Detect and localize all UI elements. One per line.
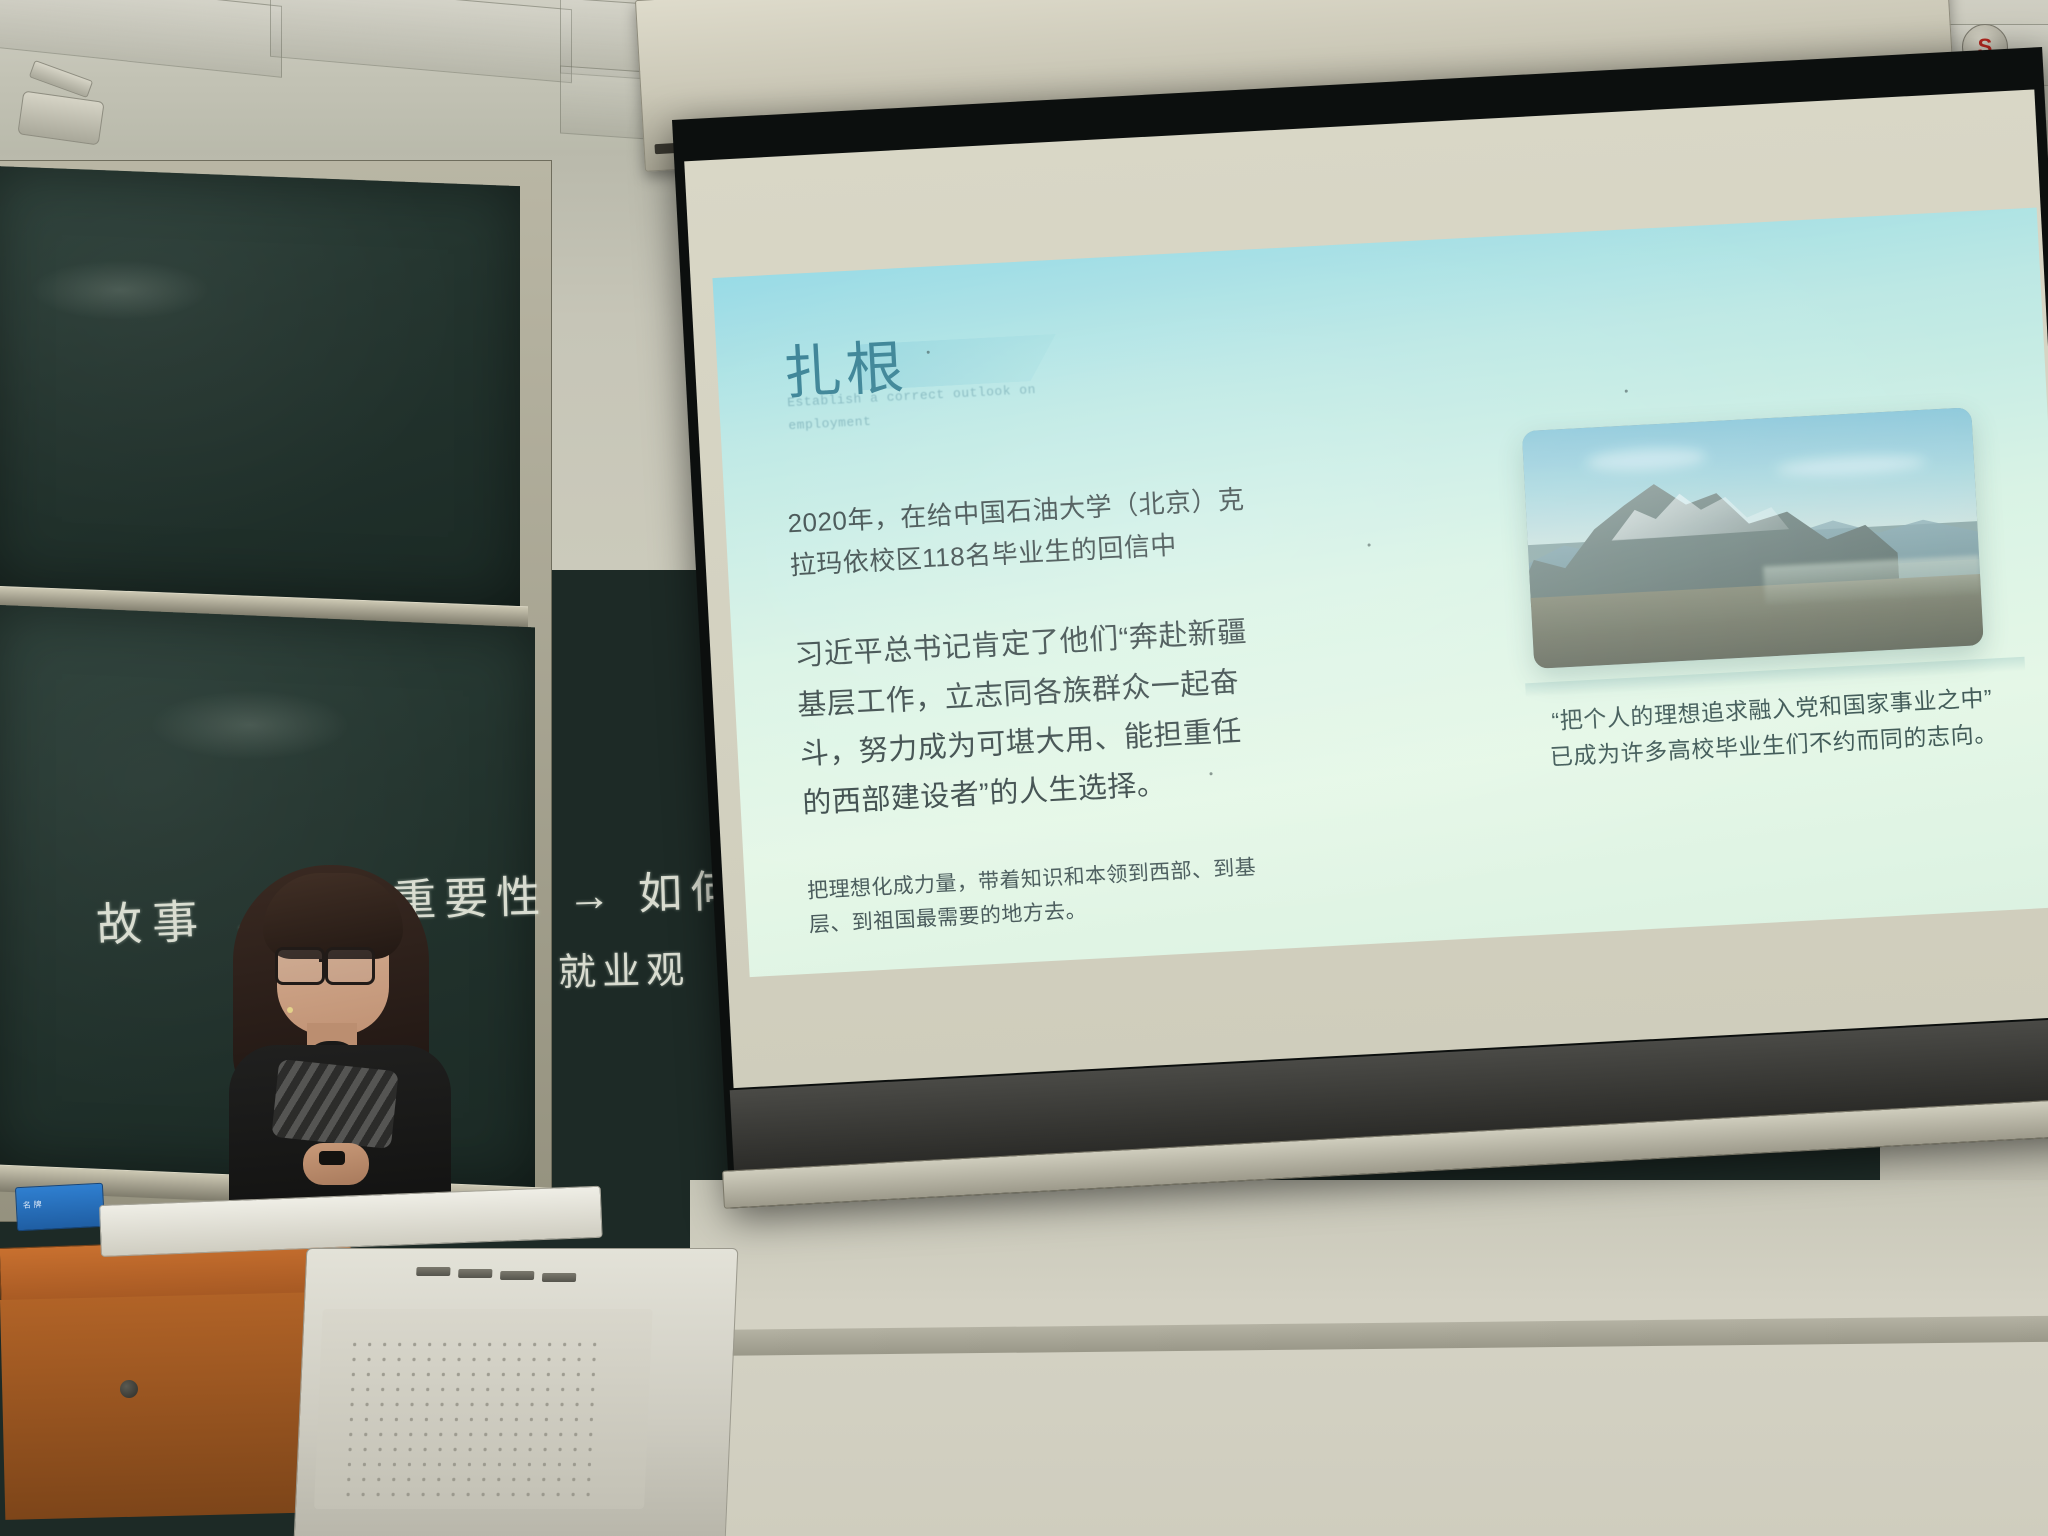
- chalk-smudge: [150, 690, 350, 760]
- slide-body-column: 2020年，在给中国石油大学（北京）克拉玛依校区118名毕业生的回信中 习近平总…: [787, 477, 1280, 943]
- presenter-scarf: [271, 1059, 398, 1149]
- photo-haze-overlay: [1522, 407, 1984, 669]
- projection-screen-surface: 扎根 Establish a correct outlook on employ…: [684, 89, 2048, 1088]
- presentation-slide: 扎根 Establish a correct outlook on employ…: [712, 208, 2048, 978]
- dust-speck: [1209, 772, 1212, 775]
- podium-knob: [120, 1380, 138, 1398]
- podium-vent-slot: [458, 1269, 492, 1278]
- name-card-label: 名 牌: [23, 1199, 43, 1211]
- wooden-desk-front: [0, 1292, 325, 1520]
- glasses-left-lens: [275, 947, 325, 985]
- blackboard-note-3: 就业观: [557, 939, 690, 997]
- podium-vent-slot: [542, 1273, 576, 1282]
- glasses-bridge: [319, 959, 327, 962]
- slide-photo-mountain: [1522, 407, 1984, 669]
- podium-speaker-grille: [341, 1337, 608, 1497]
- blackboard-panel-upper: [0, 166, 520, 606]
- presentation-clicker: [319, 1151, 345, 1165]
- slide-paragraph-3: 把理想化成力量，带着知识和本领到西部、到基层、到祖国最需要的地方去。: [806, 850, 1279, 943]
- earring: [287, 1007, 293, 1013]
- wall-lower: [690, 1180, 2048, 1536]
- dust-speck: [1625, 390, 1628, 393]
- podium-vent-slot: [500, 1271, 534, 1280]
- presenter: [215, 855, 475, 1215]
- slide-paragraph-1: 2020年，在给中国石油大学（北京）克拉玛依校区118名毕业生的回信中: [787, 477, 1261, 586]
- projection-screen: 扎根 Establish a correct outlook on employ…: [672, 47, 2048, 1208]
- slide-paragraph-2: 习近平总书记肯定了他们“奔赴新疆基层工作，立志同各族群众一起奋斗，努力成为可堪大…: [793, 607, 1273, 829]
- name-card: 名 牌: [15, 1183, 105, 1232]
- chalk-smudge: [30, 260, 210, 320]
- classroom-photo: S 故事 → 交 重要性 → 如何 就业观 扎根 Establish a cor…: [0, 0, 2048, 1536]
- glasses-right-lens: [325, 947, 375, 985]
- podium-vent-slot: [416, 1267, 450, 1276]
- podium-body: [294, 1248, 739, 1536]
- dust-speck: [1368, 543, 1371, 546]
